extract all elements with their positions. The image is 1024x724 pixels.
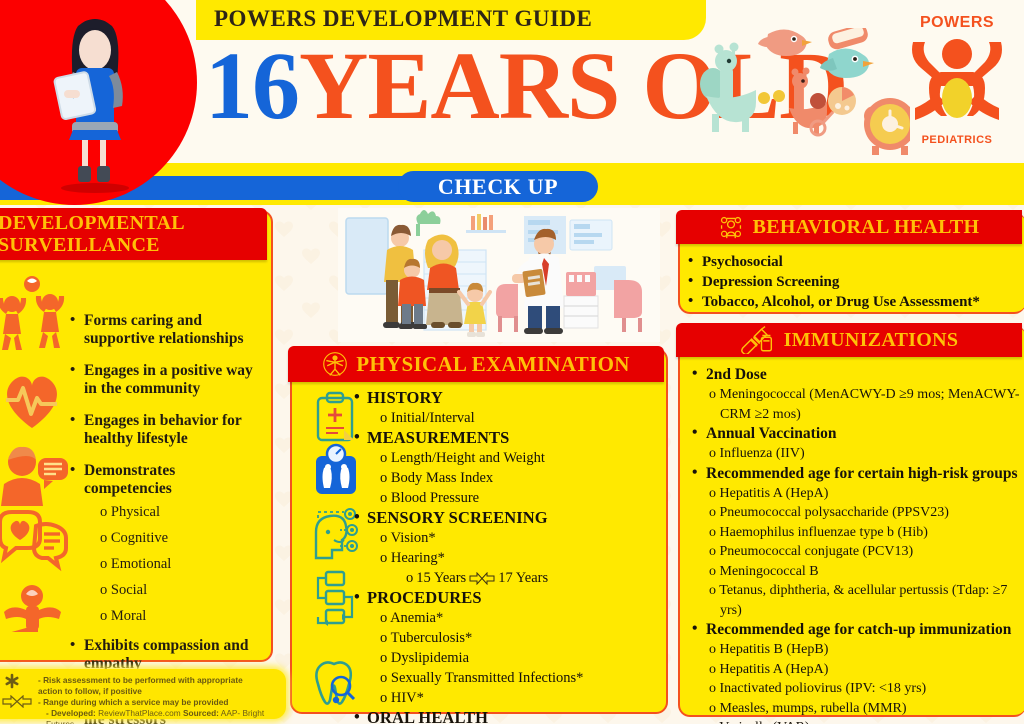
im-group-item: Inactivated poliovirus (IPV: <18 yrs) [690, 679, 1022, 699]
weight-scale-icon [316, 445, 356, 494]
ds-item: Engages in behavior for healthy lifestyl… [70, 412, 266, 448]
behavioral-health-body: Psychosocial Depression Screening Tobacc… [688, 252, 1020, 312]
pe-group-item: Sexually Transmitted Infections* [354, 669, 666, 688]
behavioral-health-title: BEHAVIORAL HEALTH [753, 216, 980, 239]
immunizations-panel: IMMUNIZATIONS 2nd Dose Meningococcal (Me… [678, 325, 1024, 717]
footnote-line-3: - Range during which a service may be pr… [38, 697, 284, 708]
logo-bottom-text: PEDIATRICS [902, 134, 1012, 146]
giraffe-icon [700, 43, 756, 133]
behavioral-health-panel: BEHAVIORAL HEALTH Psychosocial Depressio… [678, 212, 1024, 314]
footnote-legend: - Risk assessment to be performed with a… [0, 669, 286, 719]
powers-pediatrics-logo: POWERS PEDIATRICS [902, 14, 1012, 146]
giraffe-icon [789, 68, 827, 135]
family-with-doctor-illustration [338, 208, 660, 342]
header-decor-icons [690, 28, 910, 158]
bh-item: Tobacco, Alcohol, or Drug Use Assessment… [688, 292, 1020, 312]
pe-group-heading: SENSORY SCREENING [354, 508, 666, 528]
im-group-heading: Annual Vaccination [690, 424, 1022, 444]
footnote-line-2: action to follow, if positive [38, 686, 284, 697]
heart-chat-bubbles-icon [0, 512, 66, 566]
header: 16YEARS OLD [0, 0, 1024, 205]
pe-group-heading: PROCEDURES [354, 588, 666, 608]
pe-group-item: Length/Height and Weight [354, 449, 666, 468]
ds-subitem: Moral [70, 608, 266, 625]
ds-item: Exhibits compassion and empathy [70, 637, 266, 673]
ds-list: Forms caring and supportive relationship… [70, 312, 266, 724]
developmental-surveillance-panel: DEVELOPMENTAL SURVEILLANCE [0, 210, 273, 662]
footnote-developed-value: ReviewThatPlace.com [98, 708, 181, 718]
behavioral-health-header: BEHAVIORAL HEALTH [676, 210, 1022, 244]
ds-subitem: Cognitive [70, 530, 266, 547]
developmental-surveillance-header: DEVELOPMENTAL SURVEILLANCE [0, 208, 267, 260]
im-group-item: Measles, mumps, rubella (MMR) [690, 699, 1022, 719]
pe-group-item: Initial/Interval [354, 409, 666, 428]
pe-group-item: Blood Pressure [354, 489, 666, 508]
developmental-surveillance-body: Forms caring and supportive relationship… [0, 264, 273, 660]
infographic-page: 16YEARS OLD [0, 0, 1024, 724]
pe-group-item: Tuberculosis* [354, 629, 666, 648]
immunizations-title: IMMUNIZATIONS [784, 329, 959, 352]
im-group-item: Meningococcal (MenACWY-D ≥9 mos; MenACWY… [690, 385, 1022, 424]
heart-pulse-icon [6, 377, 57, 428]
logo-figure-icon [907, 32, 1007, 130]
pe-group-item: Dyslipidemia [354, 649, 666, 668]
ds-item: Engages in a positive way in the communi… [70, 362, 266, 398]
bird-icon [758, 29, 812, 56]
person-balancing-icon [4, 585, 61, 632]
procedures-flow-icon [318, 572, 352, 626]
physical-examination-panel: PHYSICAL EXAMINATION [290, 348, 668, 714]
pe-range-to: 17 Years [498, 569, 548, 588]
checkup-badge: CHECK UP [398, 171, 598, 202]
physical-examination-body: HISTORY Initial/Interval MEASUREMENTS Le… [292, 386, 670, 708]
pe-group-heading: ORAL HEALTH [354, 708, 666, 724]
ds-title-line1: DEVELOPMENTAL [0, 212, 185, 234]
footnote-line-1: - Risk assessment to be performed with a… [38, 675, 284, 686]
pe-range-from: 15 Years [416, 569, 466, 588]
ds-icon-column [0, 272, 68, 632]
range-arrows-icon [2, 695, 32, 708]
sensory-head-icon [316, 509, 357, 558]
ds-subitem: Social [70, 582, 266, 599]
pe-group-item: Body Mass Index [354, 469, 666, 488]
logo-top-text: POWERS [902, 14, 1012, 32]
im-group-item: Hepatitis A (HepA) [690, 660, 1022, 680]
checkup-label: CHECK UP [438, 174, 558, 200]
pe-group-item: HIV* [354, 689, 666, 708]
pe-group-item: Vision* [354, 529, 666, 548]
immunizations-body: 2nd Dose Meningococcal (MenACWY-D ≥9 mos… [690, 365, 1022, 724]
ds-title-line2: SURVEILLANCE [0, 234, 185, 256]
ds-subitem: Physical [70, 504, 266, 521]
footnote-rows: - Risk assessment to be performed with a… [38, 675, 284, 709]
footnote-sourced-label: Sourced: [183, 708, 219, 718]
age-number: 16 [205, 32, 299, 139]
ds-item: Forms caring and supportive relationship… [70, 312, 266, 348]
pe-group-item: Hearing* [354, 549, 666, 568]
im-group-item: Pneumococcal polysaccharide (PPSV23) [690, 503, 1022, 523]
ds-subitem: Emotional [70, 556, 266, 573]
im-group-heading: Recommended age for catch-up immunizatio… [690, 620, 1022, 640]
physical-examination-title: PHYSICAL EXAMINATION [356, 352, 629, 377]
person-speech-bubble-icon [1, 447, 68, 506]
physical-examination-header: PHYSICAL EXAMINATION [288, 346, 664, 382]
footnote-credit: - Developed: ReviewThatPlace.com Sourced… [46, 708, 286, 724]
im-group-item: Meningococcal B [690, 562, 1022, 582]
asterisk-icon [4, 673, 20, 689]
family-group-icon [719, 215, 743, 239]
im-group-heading: Recommended age for certain high-risk gr… [690, 464, 1022, 484]
pe-rows: HISTORY Initial/Interval MEASUREMENTS Le… [354, 388, 666, 724]
immunizations-header: IMMUNIZATIONS [676, 323, 1022, 357]
syringe-vial-icon [740, 326, 774, 354]
pe-range-row: 15 Years 17 Years [354, 569, 666, 588]
tooth-icon [316, 662, 354, 703]
pe-group-heading: MEASUREMENTS [354, 428, 666, 448]
im-group-item: Varicella (VAR) [690, 718, 1022, 724]
guide-title: POWERS DEVELOPMENT GUIDE [214, 6, 592, 32]
comb-icon [826, 28, 869, 51]
im-group-item: Hepatitis A (HepA) [690, 484, 1022, 504]
im-group-item: Pneumococcal conjugate (PCV13) [690, 542, 1022, 562]
im-group-item: Tetanus, diphtheria, & acellular pertuss… [690, 581, 1022, 620]
bird-icon [820, 48, 874, 78]
im-group-item: Haemophilus influenzae type b (Hib) [690, 523, 1022, 543]
ds-item: Demonstrates competencies [70, 462, 266, 498]
children-playing-icon [0, 276, 64, 350]
bh-item: Psychosocial [688, 252, 1020, 272]
im-group-item: Influenza (IIV) [690, 444, 1022, 464]
girl-with-tablet-icon [40, 12, 150, 194]
im-group-heading: 2nd Dose [690, 365, 1022, 385]
pe-group-item: Anemia* [354, 609, 666, 628]
pe-group-heading: HISTORY [354, 388, 666, 408]
range-arrows-icon [469, 572, 495, 585]
im-group-item: Hepatitis B (HepB) [690, 640, 1022, 660]
vitruvian-man-icon [322, 351, 348, 377]
footnote-developed-label: - Developed: [46, 708, 96, 718]
bh-item: Depression Screening [688, 272, 1020, 292]
clipboard-medical-icon [318, 393, 354, 440]
